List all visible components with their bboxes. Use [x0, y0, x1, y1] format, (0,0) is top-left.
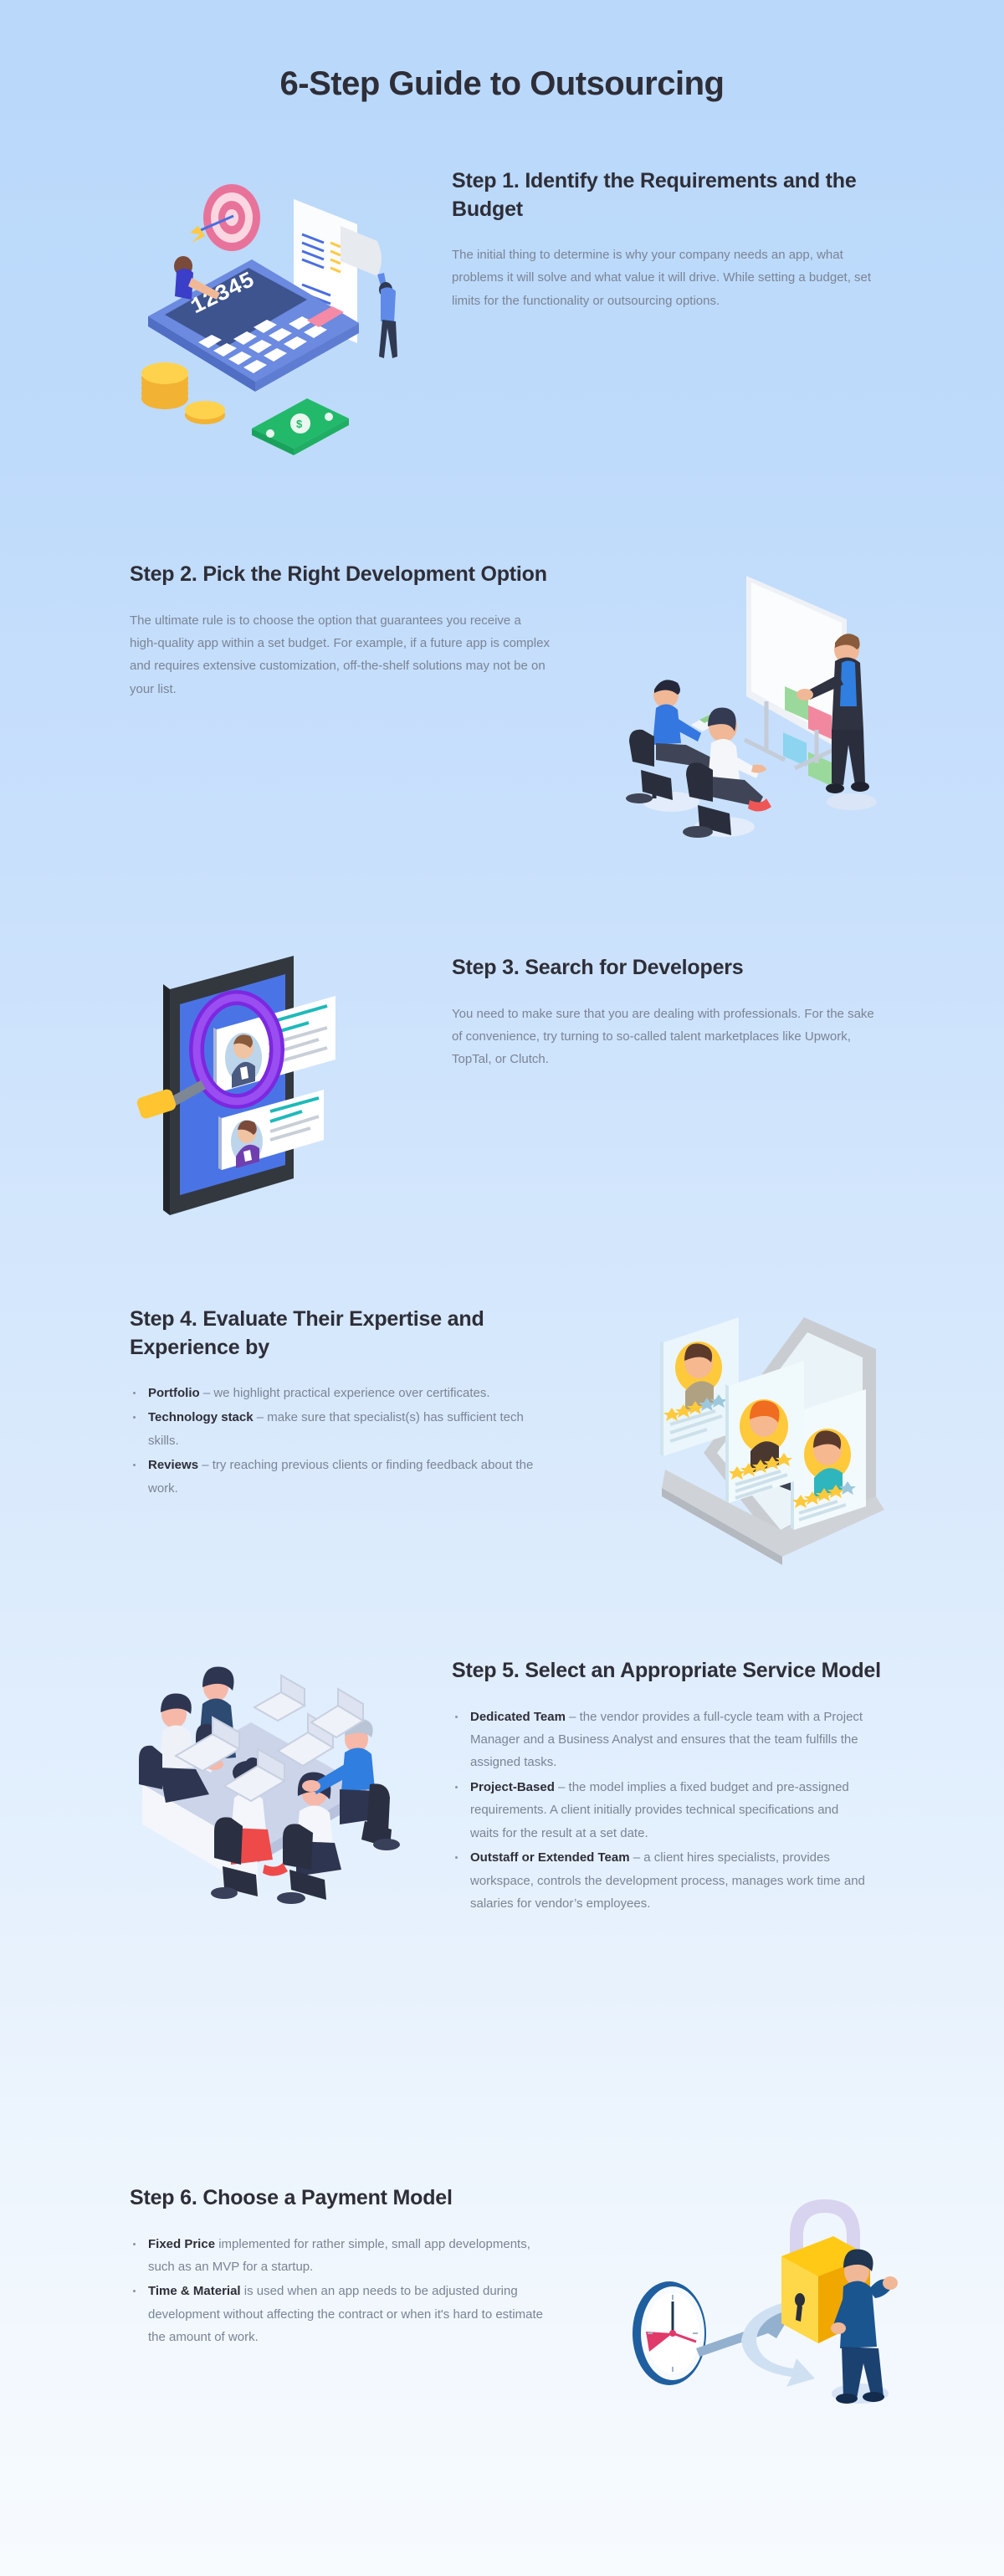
bullet-text: – try reaching previous clients or findi… [148, 1458, 533, 1495]
step-body-1: The initial thing to determine is why yo… [452, 244, 874, 312]
step-title-2: Step 2. Pick the Right Development Optio… [130, 561, 565, 589]
list-item: Portfolio – we highlight practical exper… [130, 1382, 548, 1404]
magnifier-profile-search-illustration [92, 954, 443, 1230]
page-title: 6-Step Guide to Outsourcing [0, 65, 1004, 103]
step-title-3: Step 3. Search for Developers [452, 954, 887, 983]
target-icon [190, 184, 260, 251]
step-title-6: Step 6. Choose a Payment Model [130, 2184, 565, 2213]
step-bullets-5: Dedicated Team – the vendor provides a f… [452, 1706, 870, 1916]
step-text-6: Step 6. Choose a Payment Model Fixed Pri… [130, 2184, 581, 2351]
money-stack-icon: $ [252, 398, 349, 455]
list-item: Project-Based – the model implies a fixe… [452, 1776, 870, 1845]
step-text-3: Step 3. Search for Developers You need t… [452, 954, 904, 1071]
laptop-reviews-illustration [581, 1306, 933, 1573]
step-body-2: The ultimate rule is to choose the optio… [130, 609, 552, 701]
svg-text:$: $ [296, 418, 303, 430]
list-item: Outstaff or Extended Team – a client hir… [452, 1846, 870, 1915]
step-section-5: Step 5. Select an Appropriate Service Mo… [0, 1657, 1004, 1917]
bullet-lead: Dedicated Team [470, 1710, 566, 1724]
bullet-lead: Fixed Price [148, 2237, 215, 2251]
step-text-4: Step 4. Evaluate Their Expertise and Exp… [130, 1306, 581, 1501]
clock-icon [633, 2281, 706, 2385]
step-bullets-6: Fixed Price implemented for rather simpl… [130, 2233, 548, 2349]
step-section-1: 12345 [0, 167, 1004, 444]
office-team-desk-illustration [92, 1657, 443, 1908]
whiteboard-presentation-illustration [581, 561, 933, 837]
step-text-5: Step 5. Select an Appropriate Service Mo… [452, 1657, 904, 1917]
infographic-page: 6-Step Guide to Outsourcing [0, 0, 1004, 2576]
step-text-1: Step 1. Identify the Requirements and th… [452, 167, 904, 312]
bullet-lead: Portfolio [148, 1386, 200, 1400]
bullet-lead: Outstaff or Extended Team [470, 1850, 630, 1865]
step-text-2: Step 2. Pick the Right Development Optio… [130, 561, 581, 700]
list-item: Fixed Price implemented for rather simpl… [130, 2233, 548, 2279]
budget-calculator-target-illustration: 12345 [92, 167, 443, 444]
bullet-lead: Reviews [148, 1458, 198, 1472]
list-item: Dedicated Team – the vendor provides a f… [452, 1706, 870, 1774]
person-standing [377, 273, 397, 358]
step-body-3: You need to make sure that you are deali… [452, 1003, 874, 1071]
step-title-1: Step 1. Identify the Requirements and th… [452, 167, 887, 223]
step-title-4: Step 4. Evaluate Their Expertise and Exp… [130, 1306, 565, 1362]
bullet-lead: Technology stack [148, 1410, 254, 1424]
step-section-4: Step 4. Evaluate Their Expertise and Exp… [0, 1306, 1004, 1573]
bullet-text: – we highlight practical experience over… [200, 1386, 490, 1400]
bullet-lead: Time & Material [148, 2284, 241, 2298]
list-item: Time & Material is used when an app need… [130, 2280, 548, 2348]
list-item: Reviews – try reaching previous clients … [130, 1454, 548, 1500]
step-section-6: Step 6. Choose a Payment Model Fixed Pri… [0, 2184, 1004, 2435]
coins-icon [141, 362, 225, 424]
list-item: Technology stack – make sure that specia… [130, 1406, 548, 1452]
clock-padlock-decision-illustration [581, 2184, 933, 2435]
step-title-5: Step 5. Select an Appropriate Service Mo… [452, 1657, 887, 1686]
step-bullets-4: Portfolio – we highlight practical exper… [130, 1382, 548, 1500]
step-section-3: Step 3. Search for Developers You need t… [0, 954, 1004, 1230]
step-section-2: Step 2. Pick the Right Development Optio… [0, 561, 1004, 837]
bullet-lead: Project-Based [470, 1780, 555, 1794]
